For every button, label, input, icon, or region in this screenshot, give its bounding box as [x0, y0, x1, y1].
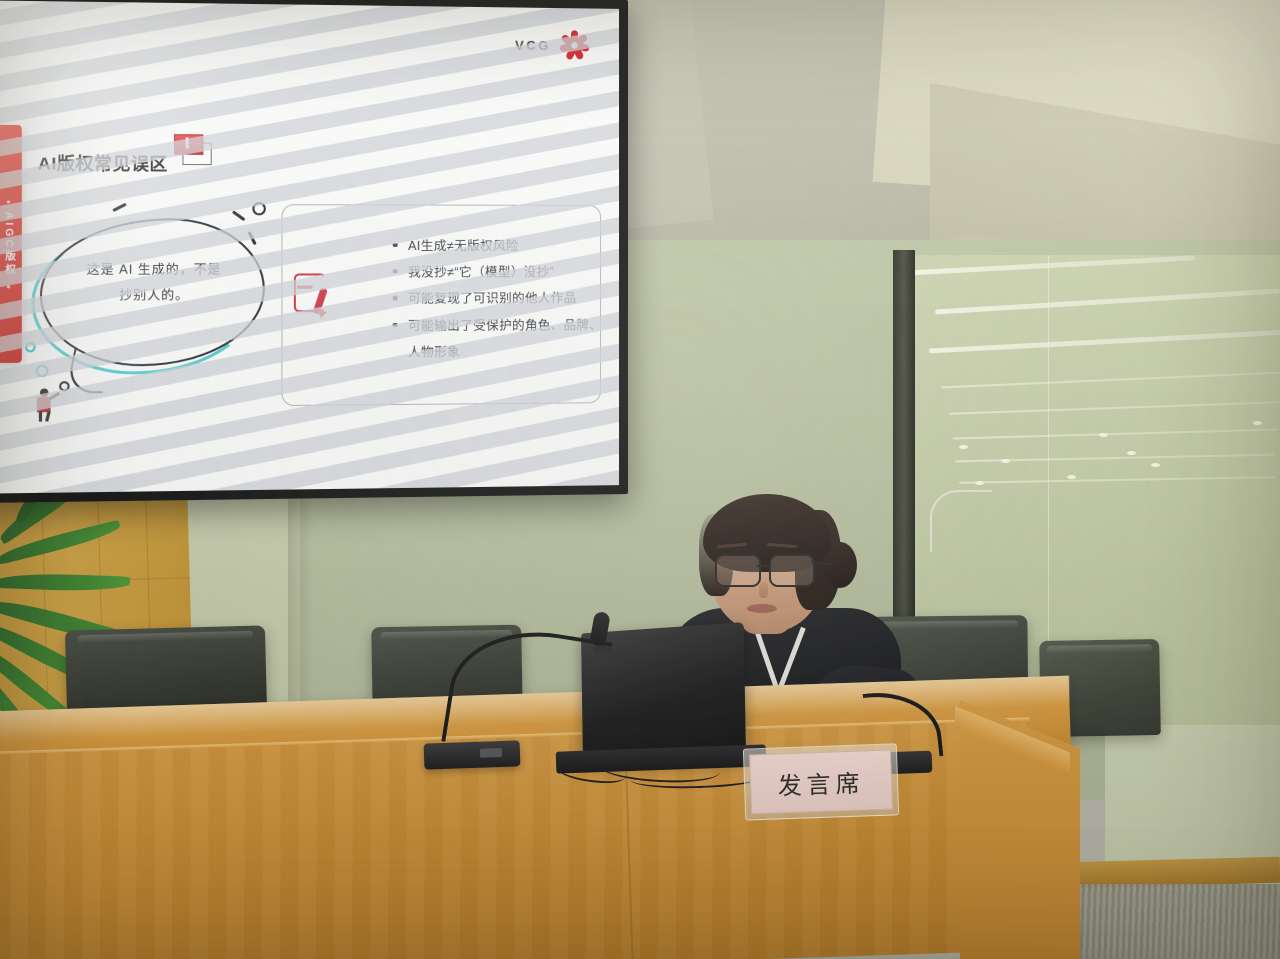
bubble-ring	[252, 202, 266, 215]
slide-side-tab: AIGC版权	[0, 125, 22, 363]
vcg-petal-burst-icon	[557, 28, 591, 62]
glass-reflection-arc	[930, 490, 992, 552]
slide-title: AI版权常见误区	[38, 149, 168, 175]
bubble-dash	[248, 231, 257, 245]
vcg-logo-text: VCG	[515, 37, 551, 52]
mini-person-illustration	[31, 388, 57, 421]
mouth	[747, 604, 777, 613]
misconception-list: AI生成≠无版权风险 我没抄≠“它（模型）没抄” 可能复现了可识别的他人作品 可…	[352, 233, 619, 367]
bubble-ring	[25, 342, 36, 352]
nameplate-card: 发言席	[749, 750, 893, 815]
conference-room-photo: VCG AIGC版权	[0, 0, 1280, 959]
presentation-display: VCG AIGC版权	[0, 0, 628, 503]
list-item: 我没抄≠“它（模型）没抄”	[393, 260, 619, 285]
screen-surface: VCG AIGC版权	[0, 0, 619, 493]
list-item: AI生成≠无版权风险	[393, 233, 619, 258]
slide-side-tab-label: AIGC版权	[0, 211, 16, 276]
desk-nameplate: 发言席	[749, 750, 891, 813]
nameplate-label: 发言席	[777, 763, 865, 801]
list-item: 可能输出了受保护的角色、品牌、	[393, 313, 619, 339]
vcg-watermark: VCG	[515, 28, 591, 63]
document-pen-icon	[294, 273, 335, 320]
copyright-frame-icon	[174, 134, 210, 163]
bubble-dash	[232, 210, 245, 220]
list-item-continuation: 人物形象	[393, 339, 619, 365]
eyeglasses-icon	[715, 554, 823, 584]
speech-bubble-line-1: 这是 AI 生成的，不是	[59, 257, 248, 283]
bubble-dash	[112, 203, 126, 212]
speech-bubble-line-2: 抄别人的。	[59, 283, 248, 309]
bubble-ring	[36, 365, 49, 377]
list-item: 可能复现了可识别的他人作品	[393, 286, 619, 311]
bubble-ring	[59, 381, 70, 391]
speech-bubble-text: 这是 AI 生成的，不是 抄别人的。	[59, 257, 248, 309]
microphone-base[interactable]	[424, 740, 521, 769]
presentation-slide: VCG AIGC版权	[0, 0, 619, 493]
nose	[759, 582, 768, 598]
